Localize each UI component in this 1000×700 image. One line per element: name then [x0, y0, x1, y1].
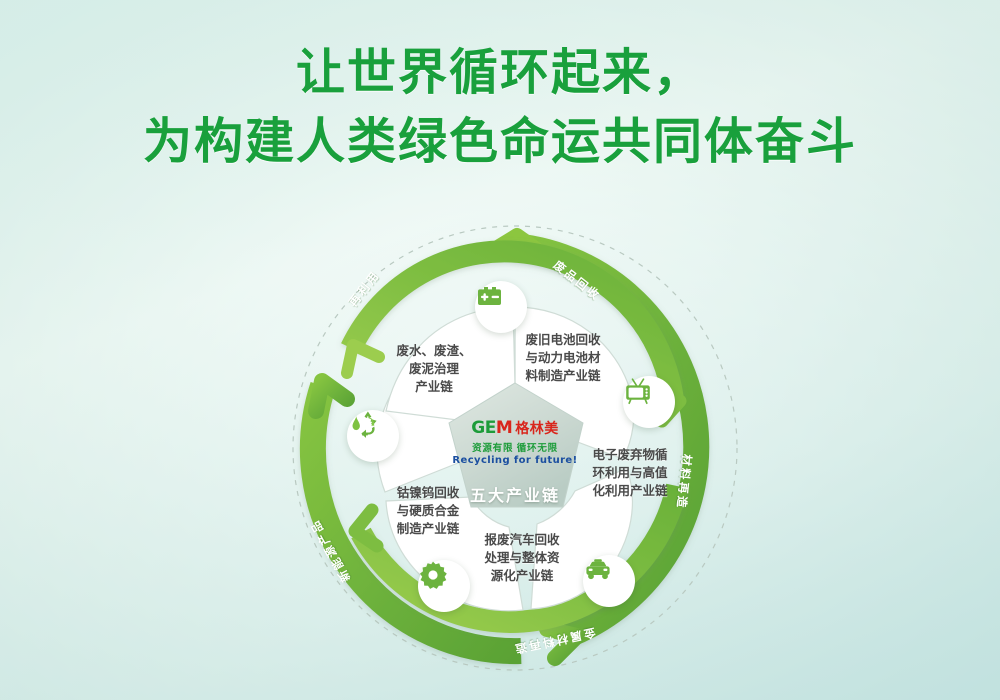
gem-slogan: 资源有限 循环无限	[440, 440, 590, 454]
battery-icon-bubble[interactable]	[475, 281, 527, 333]
water-recycle-icon-bubble[interactable]	[347, 410, 399, 462]
page-title: 让世界循环起来， 为构建人类绿色命运共同体奋斗	[0, 42, 1000, 173]
battery-icon	[475, 281, 505, 311]
center-caption: 五大产业链	[440, 482, 590, 506]
chain-text-auto: 报废汽车回收 处理与整体资 源化产业链	[467, 532, 577, 585]
gear-icon	[418, 560, 448, 590]
gem-english-slogan: Recycling for future!	[440, 455, 590, 466]
chain-text-ewaste: 电子废弃物循 环利用与高值 化利用产业链	[578, 447, 682, 500]
gem-wordmark-accent: M	[496, 418, 512, 438]
title-line-2: 为构建人类绿色命运共同体奋斗	[0, 111, 1000, 174]
water-recycle-icon	[347, 410, 379, 442]
tv-icon-bubble[interactable]	[623, 376, 675, 428]
inner-ring-arrow-left	[347, 345, 379, 373]
gear-icon-bubble[interactable]	[418, 560, 470, 612]
chain-text-battery: 废旧电池回收 与动力电池材 料制造产业链	[503, 332, 623, 385]
chain-text-water: 废水、废渣、 废泥治理 产业链	[378, 343, 490, 396]
tv-icon	[623, 376, 653, 406]
gem-logo: GEM 格林美	[440, 418, 590, 438]
car-icon	[583, 555, 613, 585]
gem-wordmark: GEM	[471, 420, 512, 437]
car-icon-bubble[interactable]	[583, 555, 635, 607]
title-line-1: 让世界循环起来，	[0, 42, 1000, 105]
center-logo-block: GEM 格林美 资源有限 循环无限 Recycling for future! …	[440, 418, 590, 506]
gem-chinese-name: 格林美	[515, 418, 559, 438]
recycling-cycle-diagram: 再利用 废品回收 材料再造 金属材料再造 新能源产品 废旧电池回收 与动力电池材…	[285, 215, 745, 680]
